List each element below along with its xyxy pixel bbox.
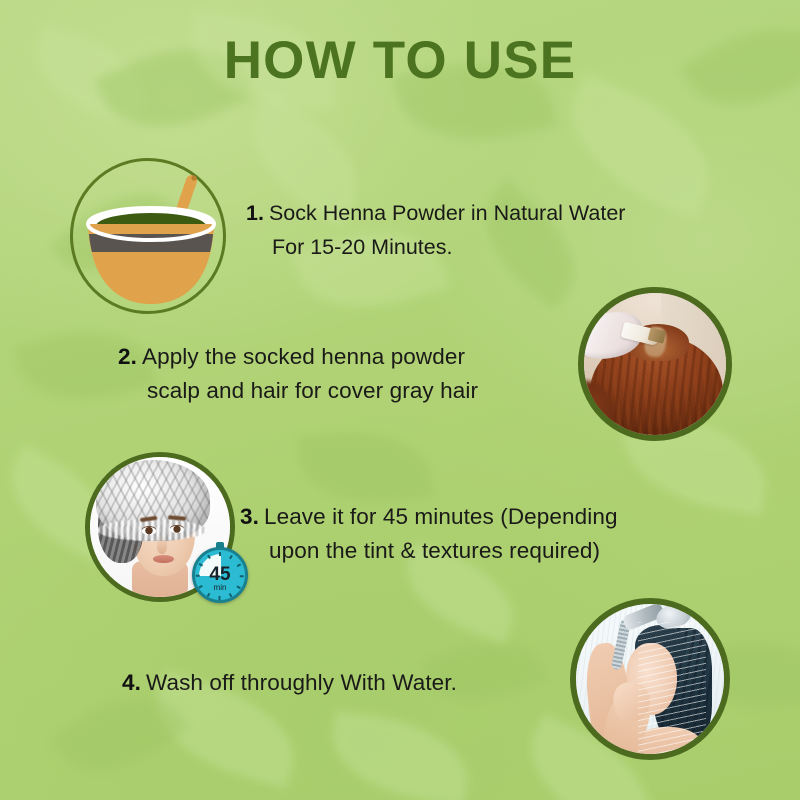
timer-badge: 45 min: [192, 547, 248, 603]
timer-dial: 45 min: [192, 547, 248, 603]
henna-application-photo: [578, 287, 732, 441]
step-4-text: 4.Wash off throughly With Water.: [122, 666, 457, 700]
timer-tick: [229, 593, 232, 597]
step-1-text: 1.Sock Henna Powder in Natural Water For…: [246, 196, 625, 264]
step-1-line-2: For 15-20 Minutes.: [246, 230, 625, 264]
bowl-svg: [70, 158, 232, 320]
step-3-line-2: upon the tint & textures required): [240, 534, 618, 568]
timer-tick: [219, 596, 221, 600]
step-3-line-1: 3.Leave it for 45 minutes (Depending: [240, 500, 618, 534]
step-2-line-1-text: Apply the socked henna powder: [142, 344, 465, 369]
step-2-line-2: scalp and hair for cover gray hair: [118, 374, 478, 408]
water-spray-shape: [638, 622, 706, 754]
eye-right: [170, 526, 184, 534]
timer-value: 45: [195, 565, 245, 584]
timer-tick: [229, 555, 232, 559]
step-2-number: 2.: [118, 344, 137, 369]
eye-left: [142, 527, 156, 535]
bowl-with-whisk-illustration: [70, 158, 226, 314]
page-title: HOW TO USE: [0, 30, 800, 91]
step-3-text: 3.Leave it for 45 minutes (Depending upo…: [240, 500, 618, 568]
step-2-line-1: 2.Apply the socked henna powder: [118, 340, 478, 374]
step-2-text: 2.Apply the socked henna powder scalp an…: [118, 340, 478, 408]
step-3-line-1-text: Leave it for 45 minutes (Depending: [264, 504, 618, 529]
step-4-line-1: 4.Wash off throughly With Water.: [122, 666, 457, 700]
step-1-line-1-text: Sock Henna Powder in Natural Water: [269, 201, 626, 225]
step-3-number: 3.: [240, 504, 259, 529]
step-1-line-1: 1.Sock Henna Powder in Natural Water: [246, 196, 625, 230]
shower-rinse-photo: [570, 598, 730, 760]
step-4-line-1-text: Wash off throughly With Water.: [146, 670, 457, 695]
nose-shape: [157, 535, 167, 553]
henna-application-image: [584, 293, 726, 435]
timer-unit: min: [195, 583, 245, 592]
step-4-number: 4.: [122, 670, 141, 695]
shower-rinse-image: [576, 604, 724, 754]
timer-tick: [219, 552, 221, 556]
step-1-number: 1.: [246, 201, 264, 225]
timer-tick: [207, 593, 210, 597]
